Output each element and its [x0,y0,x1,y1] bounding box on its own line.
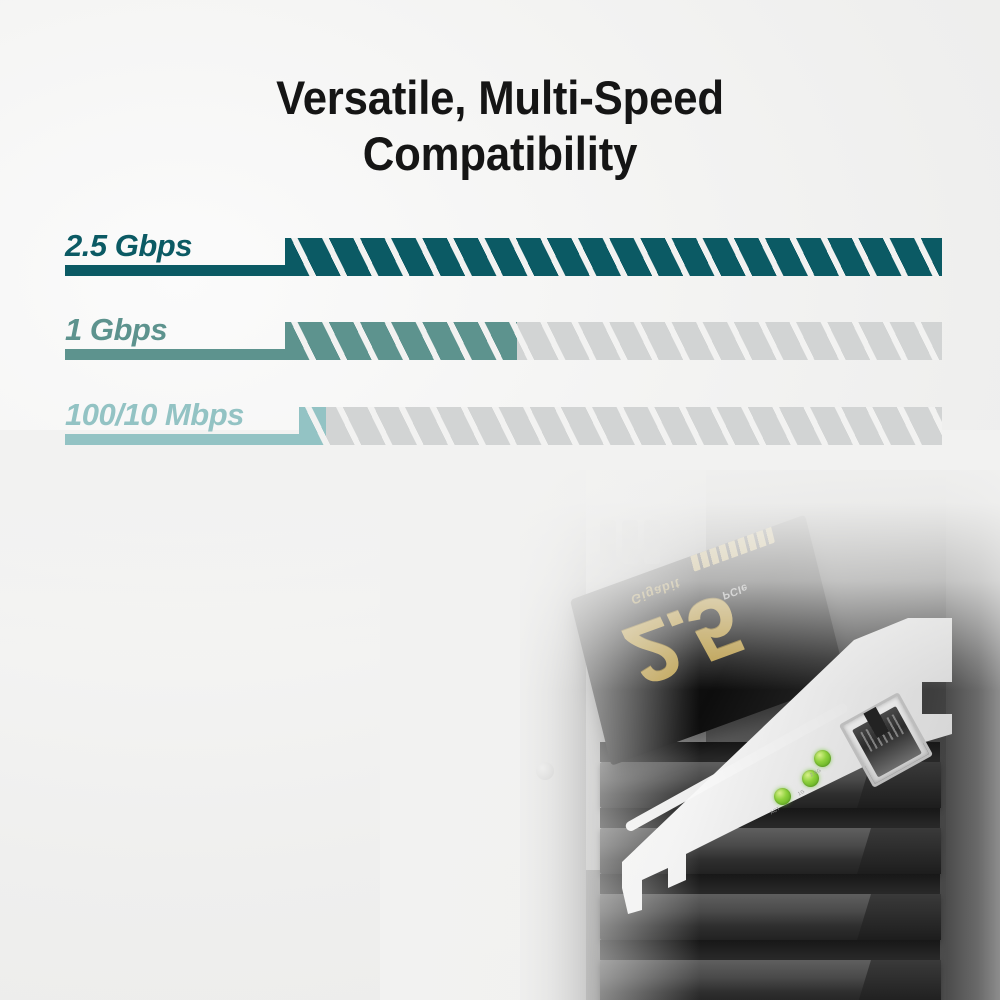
promo-banner: Gigabit 2.5 PCIe 2.5G 1G ACT [0,0,1000,1000]
speed-bar-label: 2.5 Gbps [65,228,192,264]
speed-1000-led [802,770,819,787]
rj45-pins [860,714,904,751]
photo-left-fade [380,430,700,1000]
speed-1000-led-label: 1G [797,789,806,798]
speed-bar-hatch [299,407,942,445]
speed-bar-hatch-active [299,407,326,445]
speed-bar-hatch [285,322,942,360]
rj45-port [839,692,933,788]
rj45-keyway [863,707,889,738]
speed-comparison-chart: 2.5 Gbps 1 Gbps 100/10 Mbps [0,0,1000,500]
speed-bar-hatch-inactive [299,407,942,445]
speed-bar-label: 100/10 Mbps [65,397,244,433]
speed-bar-row: 1 Gbps [0,312,1000,396]
speed-2500-led-label: 2.5G [809,768,822,779]
speed-bar-label: 1 Gbps [65,312,167,348]
speed-bar-underline [65,349,295,360]
speed-bar-underline [65,265,295,276]
speed-bar-row: 100/10 Mbps [0,397,1000,481]
rj45-mouth [852,706,922,777]
speed-bar-row: 2.5 Gbps [0,228,1000,312]
speed-bar-hatch [285,238,942,276]
link-act-led-label: ACT [769,806,781,816]
link-act-led [774,788,791,805]
speed-bar-hatch-active [285,322,517,360]
speed-2500-led [814,750,831,767]
speed-bar-underline [65,434,309,445]
speed-bar-hatch-active [285,238,942,276]
